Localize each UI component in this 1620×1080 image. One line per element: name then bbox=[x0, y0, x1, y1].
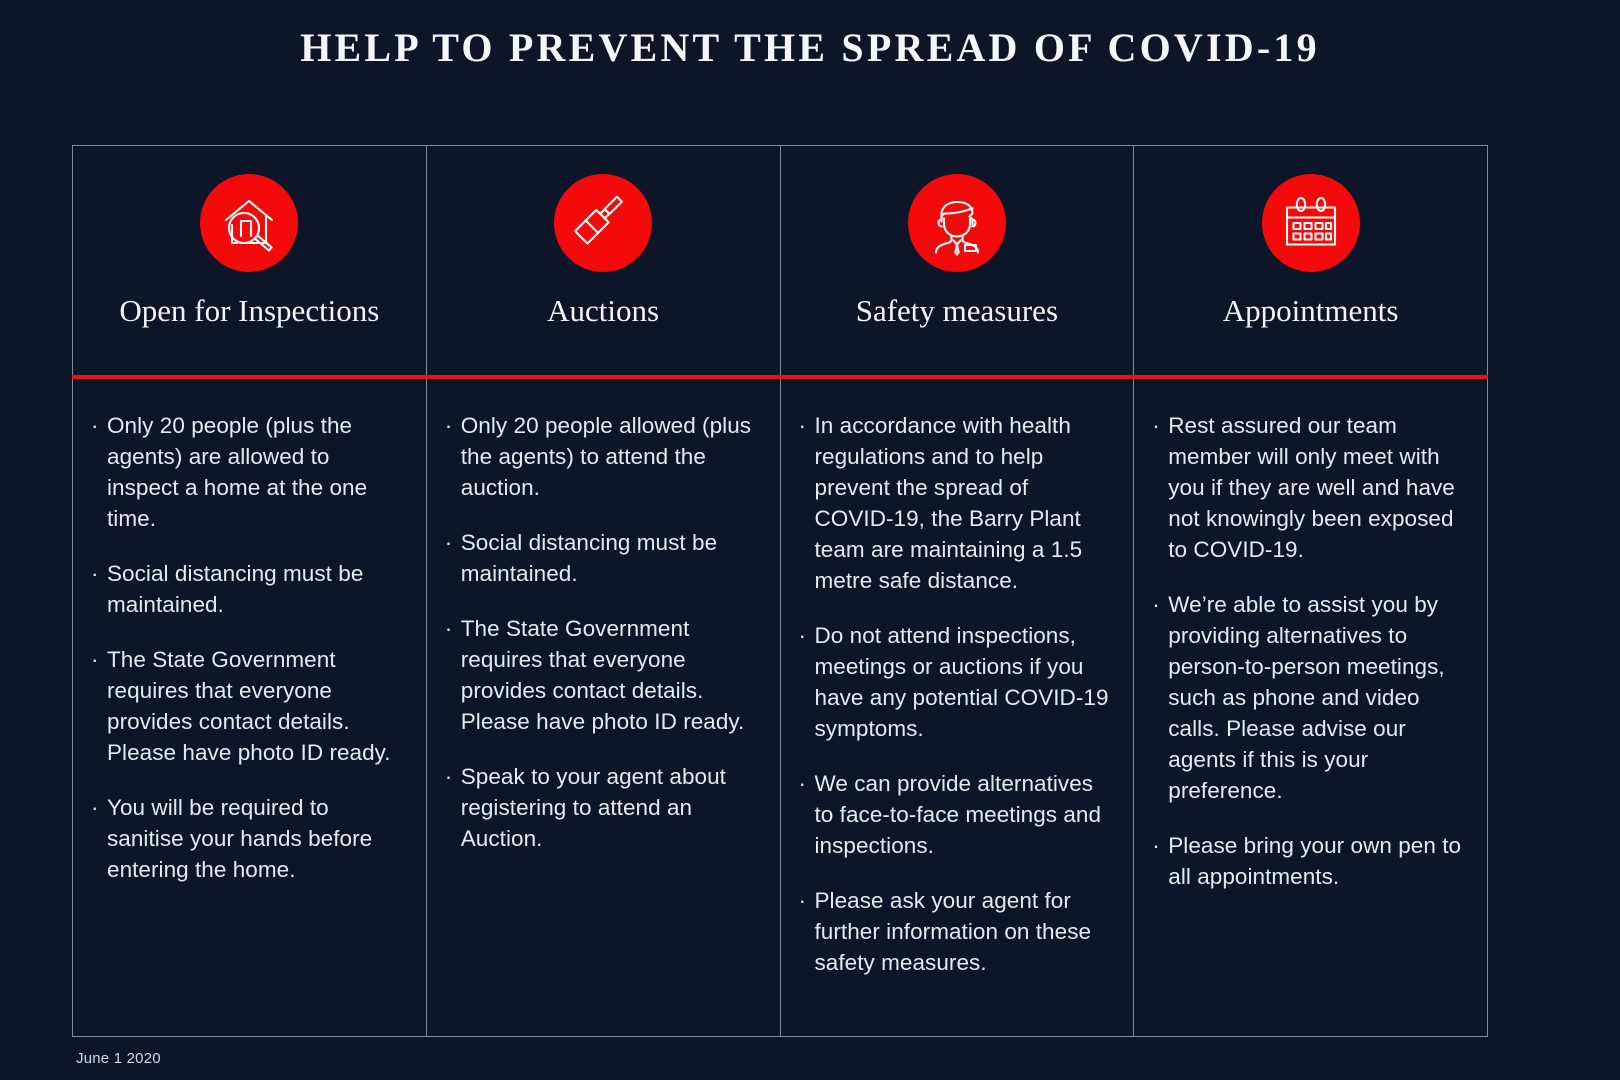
bullet-dot: · bbox=[445, 613, 459, 644]
column-title: Auctions bbox=[547, 294, 659, 328]
list-item-text: We’re able to assist you by providing al… bbox=[1168, 589, 1463, 806]
column-title: Appointments bbox=[1223, 294, 1399, 328]
info-grid: Open for Inspections ·Only 20 people (pl… bbox=[72, 145, 1488, 1037]
list-item-text: Please bring your own pen to all appoint… bbox=[1168, 830, 1463, 892]
calendar-icon bbox=[1262, 174, 1360, 272]
column-title: Open for Inspections bbox=[119, 294, 379, 328]
list-item-text: In accordance with health regulations an… bbox=[815, 410, 1110, 596]
gavel-icon bbox=[554, 174, 652, 272]
list-item: ·We can provide alternatives to face-to-… bbox=[799, 768, 1110, 861]
list-item: ·You will be required to sanitise your h… bbox=[91, 792, 402, 885]
list-item: ·Social distancing must be maintained. bbox=[445, 527, 756, 589]
list-item: ·The State Government requires that ever… bbox=[91, 644, 402, 768]
column-body: ·Only 20 people allowed (plus the agents… bbox=[427, 376, 780, 1036]
column-header: Auctions bbox=[427, 146, 780, 376]
column-header: Appointments bbox=[1134, 146, 1487, 376]
list-item-text: The State Government requires that every… bbox=[461, 613, 756, 737]
list-item: ·In accordance with health regulations a… bbox=[799, 410, 1110, 596]
list-item-text: Speak to your agent about registering to… bbox=[461, 761, 756, 854]
column-title: Safety measures bbox=[856, 294, 1058, 328]
list-item: ·Please bring your own pen to all appoin… bbox=[1152, 830, 1463, 892]
list-item: ·Only 20 people allowed (plus the agents… bbox=[445, 410, 756, 503]
footer-date: June 1 2020 bbox=[76, 1050, 161, 1067]
bullet-dot: · bbox=[799, 410, 813, 441]
list-item-text: Only 20 people allowed (plus the agents)… bbox=[461, 410, 756, 503]
list-item-text: Only 20 people (plus the agents) are all… bbox=[107, 410, 402, 534]
list-item-text: We can provide alternatives to face-to-f… bbox=[815, 768, 1110, 861]
bullet-dot: · bbox=[445, 761, 459, 792]
house-magnifier-icon bbox=[200, 174, 298, 272]
list-item: ·Social distancing must be maintained. bbox=[91, 558, 402, 620]
bullet-dot: · bbox=[1152, 410, 1166, 441]
list-item: ·Speak to your agent about registering t… bbox=[445, 761, 756, 854]
list-item: ·Only 20 people (plus the agents) are al… bbox=[91, 410, 402, 534]
list-item: ·We’re able to assist you by providing a… bbox=[1152, 589, 1463, 806]
bullet-dot: · bbox=[799, 768, 813, 799]
column-header: Safety measures bbox=[781, 146, 1134, 376]
column-body: ·Rest assured our team member will only … bbox=[1134, 376, 1487, 1036]
list-item: ·Rest assured our team member will only … bbox=[1152, 410, 1463, 565]
column-open-for-inspections: Open for Inspections ·Only 20 people (pl… bbox=[73, 146, 427, 1036]
column-auctions: Auctions ·Only 20 people allowed (plus t… bbox=[427, 146, 781, 1036]
list-item-text: Social distancing must be maintained. bbox=[107, 558, 402, 620]
list-item-text: The State Government requires that every… bbox=[107, 644, 402, 768]
column-body: ·Only 20 people (plus the agents) are al… bbox=[73, 376, 426, 1036]
list-item: ·Please ask your agent for further infor… bbox=[799, 885, 1110, 978]
bullet-dot: · bbox=[1152, 589, 1166, 620]
covid-safety-poster: HELP TO PREVENT THE SPREAD OF COVID-19 bbox=[0, 0, 1620, 1080]
list-item-text: Rest assured our team member will only m… bbox=[1168, 410, 1463, 565]
list-item-text: Do not attend inspections, meetings or a… bbox=[815, 620, 1110, 744]
bullet-dot: · bbox=[799, 885, 813, 916]
column-body: ·In accordance with health regulations a… bbox=[781, 376, 1134, 1036]
page-title: HELP TO PREVENT THE SPREAD OF COVID-19 bbox=[0, 24, 1620, 71]
list-item: ·The State Government requires that ever… bbox=[445, 613, 756, 737]
column-safety-measures: Safety measures ·In accordance with heal… bbox=[781, 146, 1135, 1036]
bullet-dot: · bbox=[445, 527, 459, 558]
list-item-text: Please ask your agent for further inform… bbox=[815, 885, 1110, 978]
bullet-dot: · bbox=[91, 644, 105, 675]
list-item: ·Do not attend inspections, meetings or … bbox=[799, 620, 1110, 744]
bullet-dot: · bbox=[799, 620, 813, 651]
bullet-dot: · bbox=[91, 558, 105, 589]
agent-person-icon bbox=[908, 174, 1006, 272]
bullet-dot: · bbox=[445, 410, 459, 441]
list-item-text: You will be required to sanitise your ha… bbox=[107, 792, 402, 885]
red-divider-rule bbox=[72, 375, 1488, 379]
column-header: Open for Inspections bbox=[73, 146, 426, 376]
bullet-dot: · bbox=[1152, 830, 1166, 861]
bullet-dot: · bbox=[91, 410, 105, 441]
bullet-dot: · bbox=[91, 792, 105, 823]
column-appointments: Appointments ·Rest assured our team memb… bbox=[1134, 146, 1487, 1036]
list-item-text: Social distancing must be maintained. bbox=[461, 527, 756, 589]
